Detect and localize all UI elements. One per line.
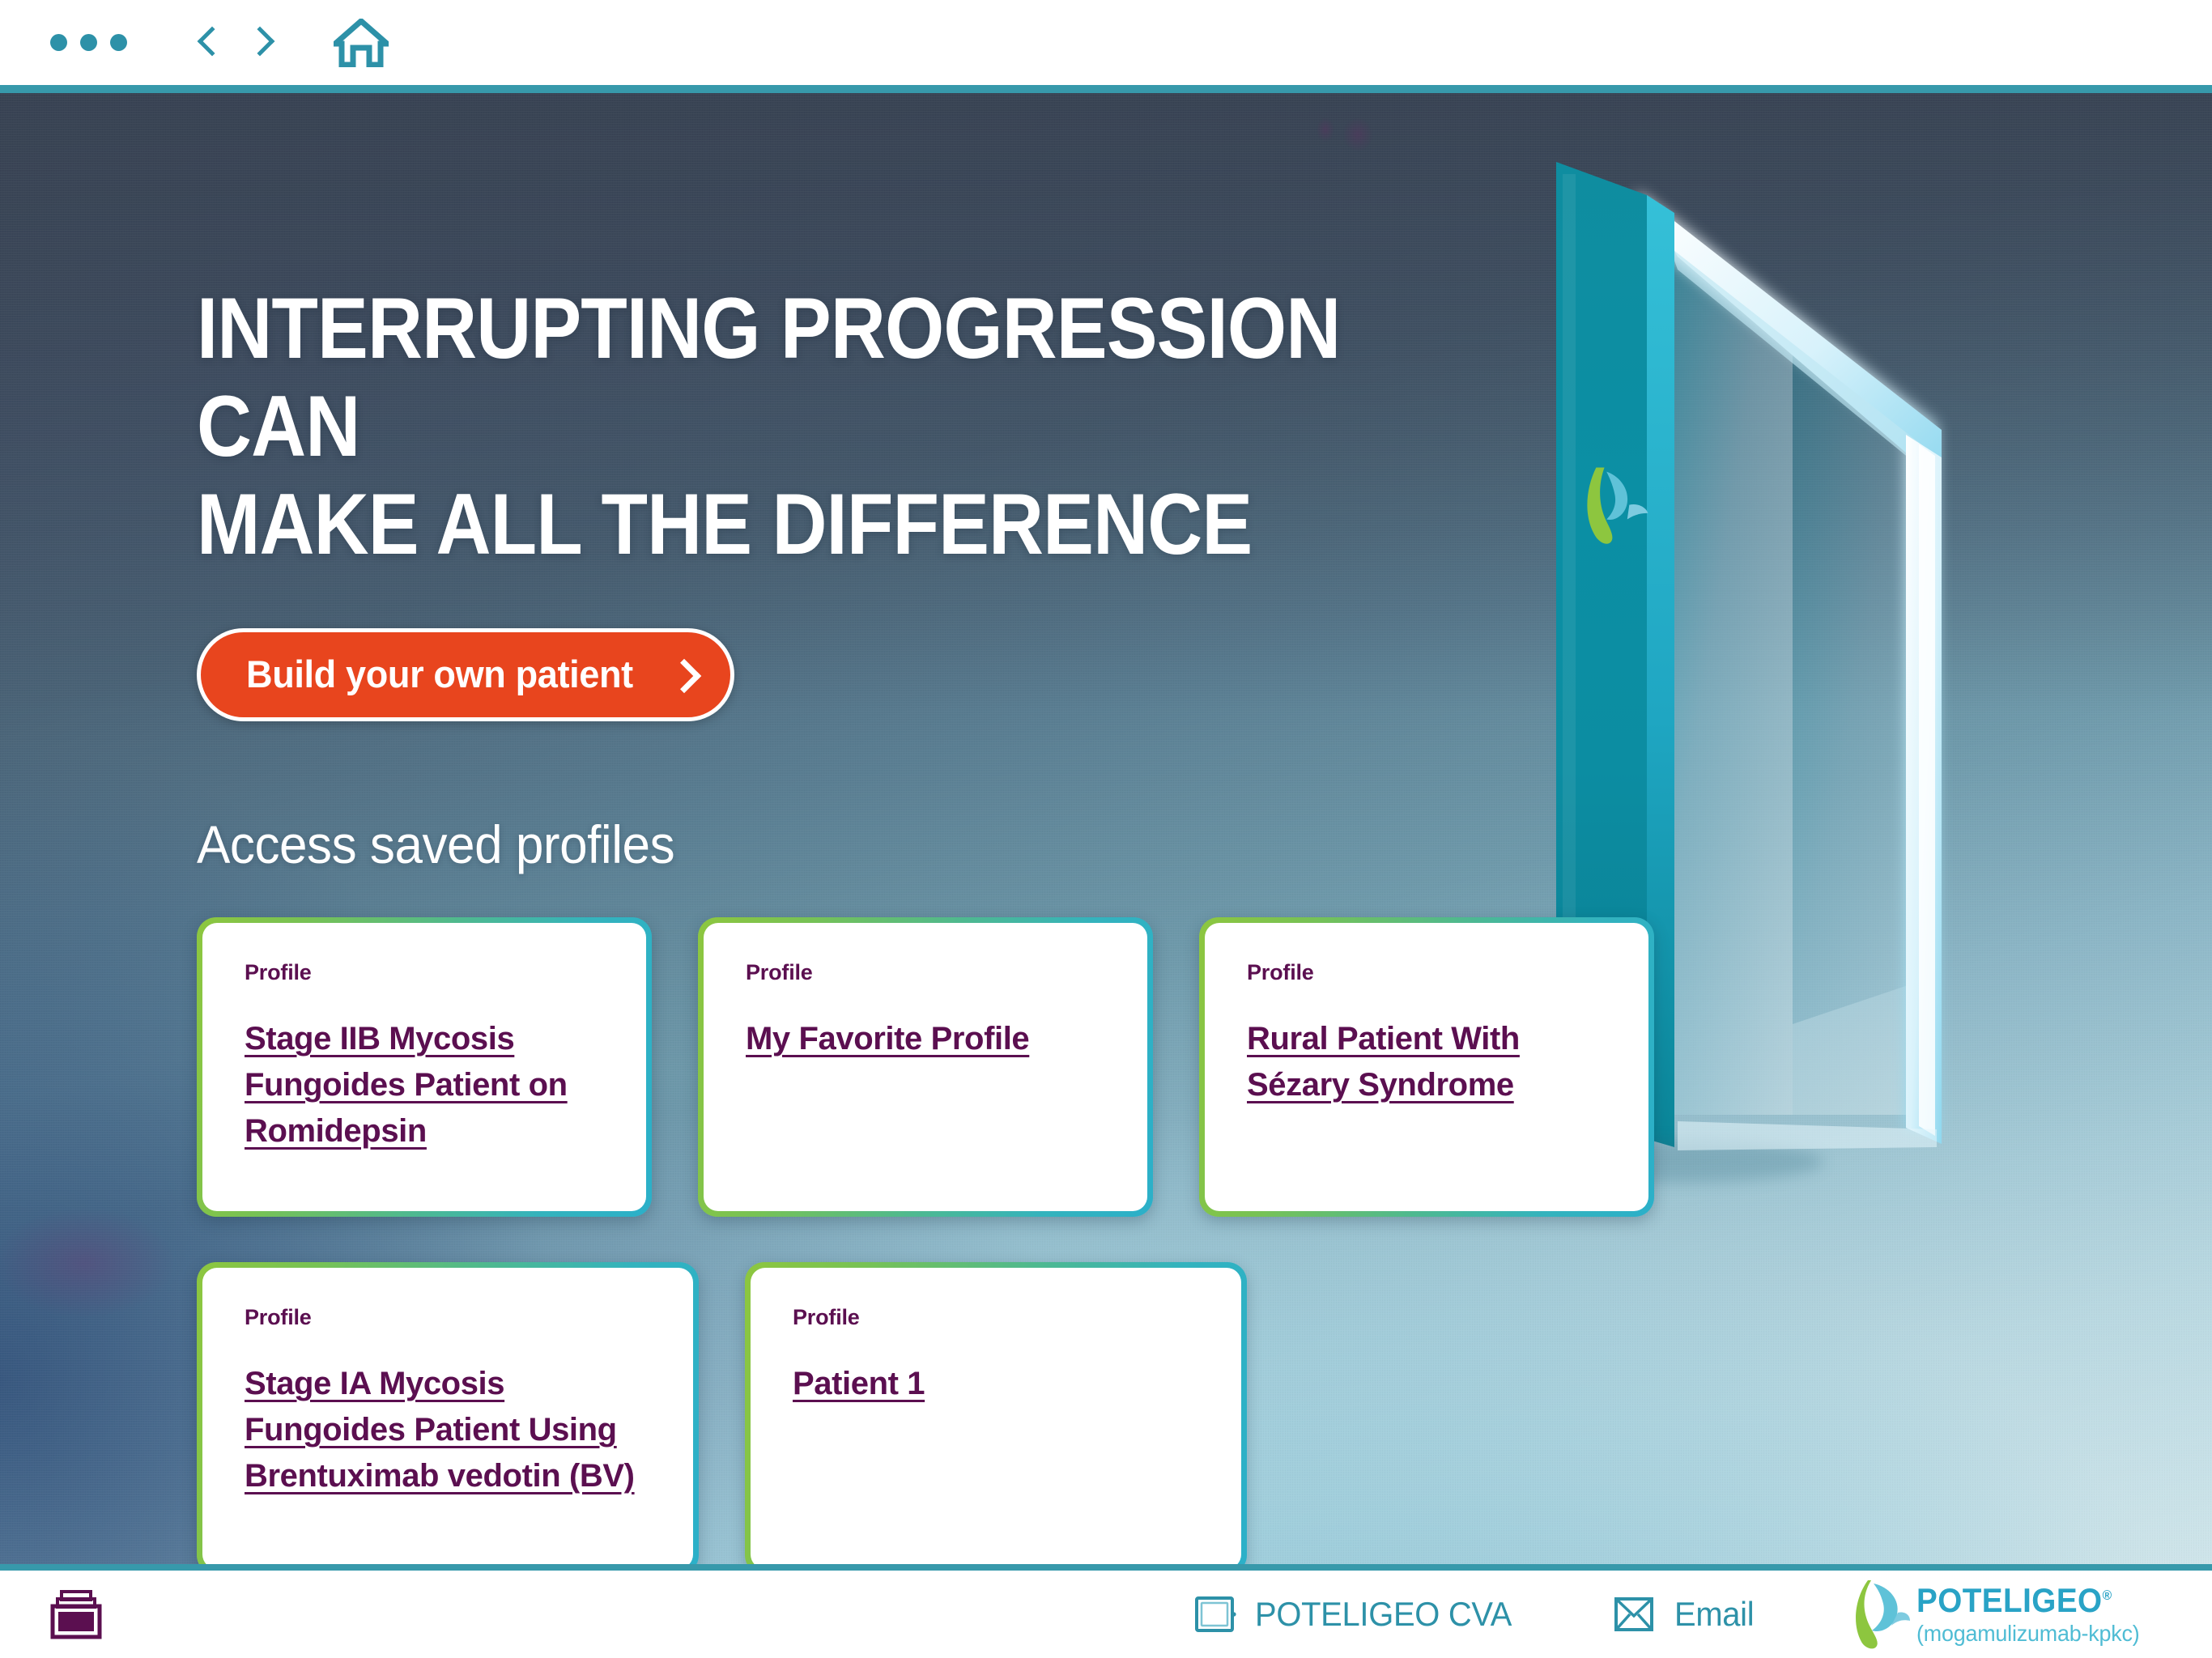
profile-card[interactable]: Profile Stage IA Mycosis Fungoides Patie… [197, 1262, 699, 1564]
home-icon[interactable] [334, 19, 389, 67]
profile-card-row-2: Profile Stage IA Mycosis Fungoides Patie… [197, 1262, 1654, 1564]
app-root: INTERRUPTING PROGRESSION CAN MAKE ALL TH… [0, 0, 2212, 1658]
profile-card-title-link[interactable]: Rural Patient With Sézary Syndrome [1247, 1016, 1611, 1108]
brand-name-text: POTELIGEO [1916, 1581, 2103, 1619]
profile-card[interactable]: Profile My Favorite Profile [698, 917, 1153, 1217]
history-nav-group [196, 24, 272, 62]
background-artifact-left [0, 1178, 211, 1348]
topbar-divider [0, 85, 2212, 93]
headline-line-1: INTERRUPTING PROGRESSION CAN [197, 279, 1340, 474]
brand-subtitle: (mogamulizumab-kpkc) [1916, 1622, 2139, 1645]
profile-card-inner: Profile Patient 1 [751, 1268, 1241, 1564]
footer-actions: POTELIGEO CVA Email POTELIGE [1195, 1577, 2149, 1652]
background-artifact-top [1308, 105, 1380, 154]
profile-card-title-link[interactable]: Stage IIB Mycosis Fungoides Patient on R… [245, 1016, 609, 1154]
profile-card-row-1: Profile Stage IIB Mycosis Fungoides Pati… [197, 917, 1654, 1217]
hero-content: INTERRUPTING PROGRESSION CAN MAKE ALL TH… [197, 279, 1614, 721]
profile-card-eyebrow: Profile [746, 960, 1110, 985]
library-button[interactable] [50, 1589, 104, 1639]
saved-profiles-section: Access saved profiles Profile Stage IIB … [197, 814, 1654, 1564]
profile-card-title-link[interactable]: Stage IA Mycosis Fungoides Patient Using… [245, 1361, 656, 1499]
dot-3 [110, 34, 127, 51]
page-title: INTERRUPTING PROGRESSION CAN MAKE ALL TH… [197, 279, 1444, 573]
dot-1 [50, 34, 67, 51]
poteligeo-brand-logo[interactable]: POTELIGEO® (mogamulizumab-kpkc) [1847, 1577, 2149, 1652]
envelope-icon [1614, 1596, 1657, 1632]
chevron-right-icon[interactable] [248, 24, 272, 62]
build-your-own-patient-button[interactable]: Build your own patient [197, 628, 734, 721]
poteligeo-leaf-icon [1847, 1577, 1910, 1652]
profile-card-title-link[interactable]: My Favorite Profile [746, 1016, 1110, 1062]
brand-text: POTELIGEO® (mogamulizumab-kpkc) [1916, 1584, 2149, 1645]
poteligeo-cva-label: POTELIGEO CVA [1255, 1595, 1512, 1634]
hero-stage: INTERRUPTING PROGRESSION CAN MAKE ALL TH… [0, 93, 2212, 1564]
chevron-left-icon[interactable] [196, 24, 220, 62]
brand-name: POTELIGEO® [1916, 1584, 2130, 1618]
registered-mark: ® [2103, 1588, 2112, 1603]
profile-card[interactable]: Profile Patient 1 [745, 1262, 1247, 1564]
more-dots-icon[interactable] [50, 34, 127, 51]
dot-2 [80, 34, 97, 51]
profile-card-eyebrow: Profile [793, 1305, 1204, 1330]
email-button[interactable]: Email [1614, 1595, 1759, 1634]
chevron-right-icon [670, 657, 691, 690]
top-navigation-bar [0, 0, 2212, 85]
profile-card-inner: Profile My Favorite Profile [704, 923, 1147, 1211]
profile-card[interactable]: Profile Rural Patient With Sézary Syndro… [1199, 917, 1654, 1217]
saved-profiles-heading: Access saved profiles [197, 814, 1567, 875]
cta-wrapper: Build your own patient [197, 628, 1614, 721]
profile-card-eyebrow: Profile [245, 1305, 656, 1330]
footer-bar: POTELIGEO CVA Email POTELIGE [0, 1571, 2212, 1658]
email-label: Email [1674, 1595, 1754, 1634]
profile-card-inner: Profile Rural Patient With Sézary Syndro… [1205, 923, 1648, 1211]
headline-line-2: MAKE ALL THE DIFFERENCE [197, 475, 1252, 572]
profile-card-eyebrow: Profile [245, 960, 609, 985]
profile-card[interactable]: Profile Stage IIB Mycosis Fungoides Pati… [197, 917, 652, 1217]
footer-divider [0, 1564, 2212, 1571]
profile-card-eyebrow: Profile [1247, 960, 1611, 985]
profile-card-inner: Profile Stage IA Mycosis Fungoides Patie… [202, 1268, 693, 1564]
poteligeo-cva-button[interactable]: POTELIGEO CVA [1195, 1595, 1525, 1634]
profile-card-inner: Profile Stage IIB Mycosis Fungoides Pati… [202, 923, 646, 1211]
tablet-device-icon [1195, 1596, 1237, 1632]
cta-label: Build your own patient [246, 652, 633, 696]
stacked-cards-icon [50, 1589, 104, 1639]
profile-card-title-link[interactable]: Patient 1 [793, 1361, 1204, 1407]
